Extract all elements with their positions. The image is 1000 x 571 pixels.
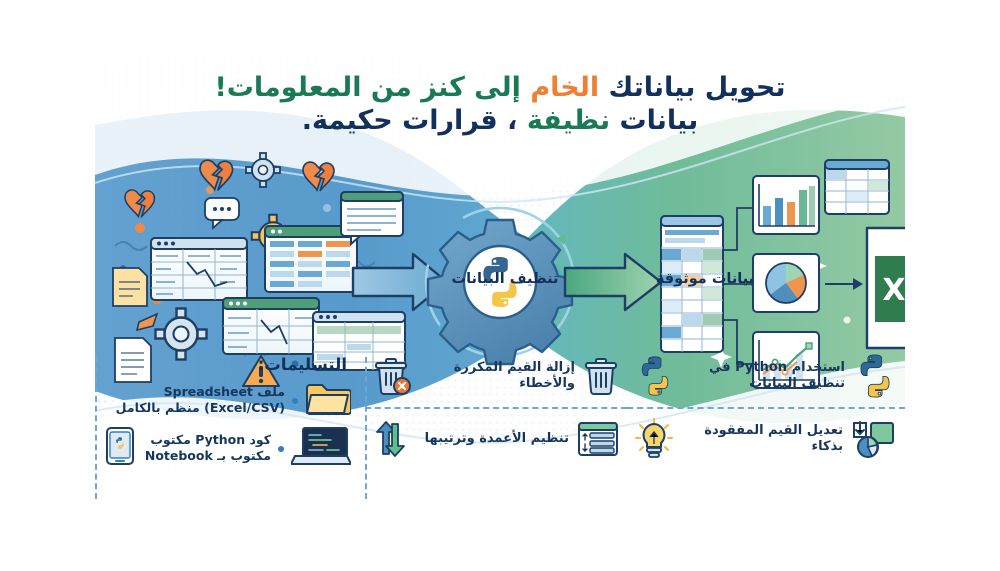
excel-file-icon: X: [867, 228, 905, 348]
subtitle-part-green: نظيفة: [527, 105, 610, 136]
chart-import-icon: [851, 419, 897, 459]
spreadsheet-window-icon: [341, 192, 403, 244]
python-icon: [853, 354, 897, 398]
gear-icon: [246, 153, 280, 187]
column-sort-icon: [577, 420, 619, 458]
subtitle-part-navy-2: ، قرارات حكيمة.: [302, 105, 518, 136]
divider-deliverables: [95, 357, 97, 499]
deliverables-title: التسليمات:: [105, 355, 347, 374]
lightbulb-icon: [635, 418, 673, 460]
title-line-1: تحويل بياناتك الخام إلى كنز من المعلومات…: [95, 72, 905, 105]
feature-text: تنظيم الأعمدة وترتيبها: [419, 431, 569, 447]
deliverable-item: كود Python مكتوب مكتوب بـ Notebook: [105, 424, 351, 472]
feature-item: تعديل القيم المفقودة بذكاء: [627, 407, 905, 469]
document-icon: [113, 268, 147, 306]
title-line-2: بيانات نظيفة ، قرارات حكيمة.: [95, 105, 905, 138]
subtitle-part-navy: بيانات: [620, 105, 699, 136]
deliverable-item: ملف Spreadsheet (Excel/CSV) منظم بالكامل: [105, 380, 351, 420]
bottom-panel: التسليمات: ملف Spreadsheet (Excel/CSV) م…: [95, 345, 905, 513]
up-down-arrows-icon: [373, 420, 411, 458]
deliverables-column: التسليمات: ملف Spreadsheet (Excel/CSV) م…: [95, 345, 365, 513]
screenshot-canvas: تحويل بياناتك الخام إلى كنز من المعلومات…: [0, 0, 1000, 571]
title-part-orange: الخام: [530, 72, 599, 103]
chat-bubble-icon: [205, 198, 239, 228]
center-stage-label: تنظيف البيانات: [425, 271, 585, 287]
deliverable-text: كود Python مكتوب مكتوب بـ Notebook: [142, 432, 271, 465]
feature-item: استخدام Python في تنظيف البيانات: [627, 345, 905, 407]
title-part-green: إلى كنز من المعلومات!: [214, 72, 520, 103]
spreadsheet-window-icon: [151, 238, 247, 300]
tablet-python-icon: [105, 426, 135, 470]
bullet-dot: [278, 446, 284, 452]
feature-text: تعديل القيم المفقودة بذكاء: [681, 423, 843, 456]
features-middle-column: إزالة القيم المكررة والأخطاء: [365, 345, 627, 513]
page-title: تحويل بياناتك الخام إلى كنز من المعلومات…: [95, 72, 905, 138]
features-left-column: استخدام Python في تنظيف البيانات: [627, 345, 905, 513]
title-part-navy: تحويل بياناتك: [609, 72, 786, 103]
folder-icon: [305, 380, 351, 420]
bar-chart-icon: [753, 176, 819, 234]
feature-text: إزالة القيم المكررة والأخطاء: [421, 360, 575, 393]
python-icon: [635, 356, 675, 396]
excel-letter: X: [882, 273, 905, 308]
feature-text: استخدام Python في تنظيف البيانات: [683, 360, 845, 393]
infographic-poster: تحويل بياناتك الخام إلى كنز من المعلومات…: [95, 55, 905, 513]
trash-icon: [583, 357, 619, 395]
laptop-code-icon: [291, 424, 351, 472]
deliverable-text: ملف Spreadsheet (Excel/CSV) منظم بالكامل: [105, 384, 285, 417]
feature-item: تنظيم الأعمدة وترتيبها: [365, 407, 627, 469]
clean-table-icon: [825, 160, 889, 214]
right-stage-label: بيانات موثوقة: [625, 271, 785, 287]
feature-item: إزالة القيم المكررة والأخطاء: [365, 345, 627, 407]
bullet-dot: [292, 398, 298, 404]
trash-error-icon: [373, 357, 413, 395]
